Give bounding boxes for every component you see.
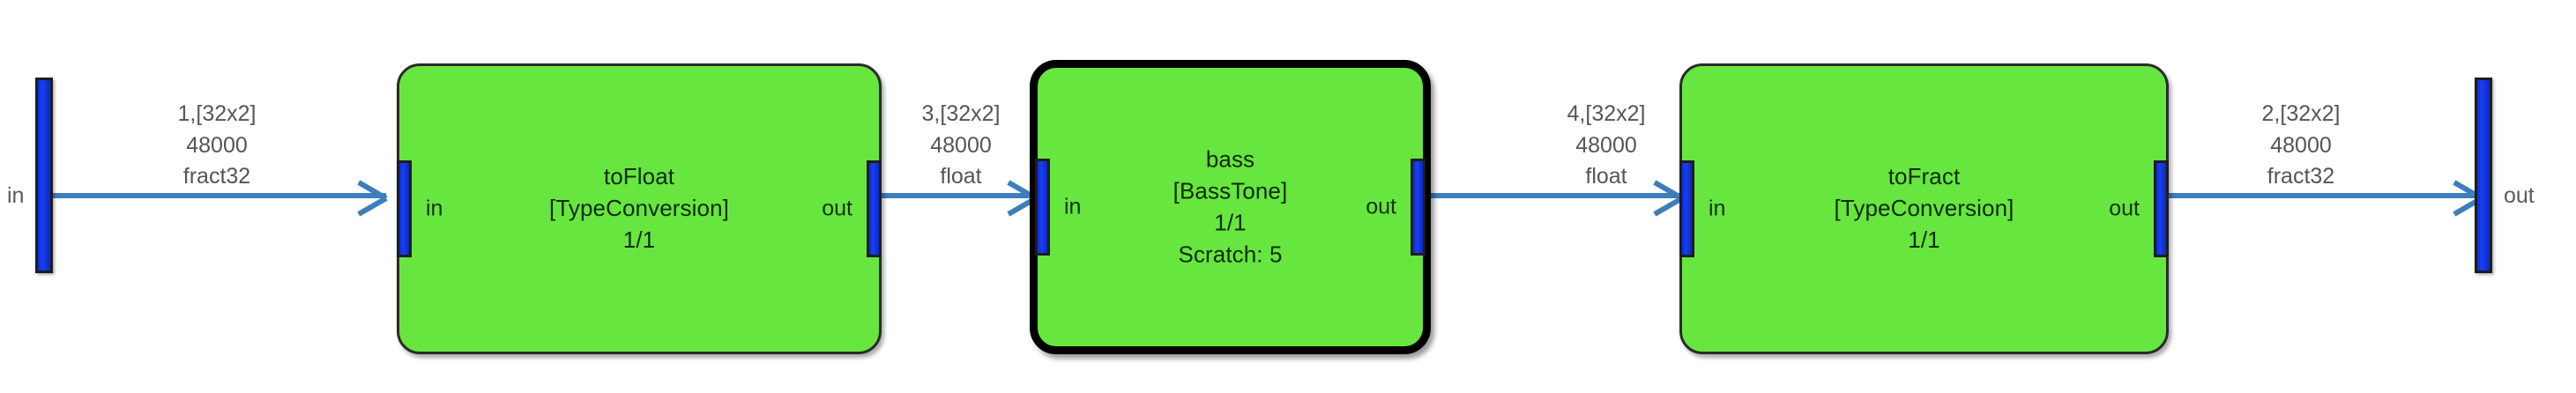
block-toFloat-port-in[interactable] xyxy=(397,160,412,257)
block-bass-extra: Scratch: 5 xyxy=(1038,239,1423,271)
block-toFloat-body: toFloat [TypeConversion] 1/1 xyxy=(399,161,879,256)
block-toFloat-type: [TypeConversion] xyxy=(399,193,879,225)
block-bass-port-in-label: in xyxy=(1064,196,1081,219)
block-toFract-name: toFract xyxy=(1682,161,2166,193)
block-toFloat[interactable]: in out toFloat [TypeConversion] 1/1 xyxy=(397,63,882,354)
block-toFract-rate: 1/1 xyxy=(1682,225,2166,256)
edge-line-2[interactable] xyxy=(2164,193,2482,198)
block-toFloat-rate: 1/1 xyxy=(399,225,879,256)
edge-label-2-line3: fract32 xyxy=(2262,161,2341,193)
block-toFloat-port-in-label: in xyxy=(426,198,443,220)
edge-label-4-line3: float xyxy=(1567,161,1646,193)
edge-label-2-line1: 2,[32x2] xyxy=(2262,99,2341,130)
edge-label-2-line2: 48000 xyxy=(2262,130,2341,162)
block-bass-port-out-label: out xyxy=(1366,196,1396,219)
block-toFract-port-in[interactable] xyxy=(1679,160,1694,257)
edge-label-1-line2: 48000 xyxy=(178,130,257,162)
block-bass-name: bass xyxy=(1038,144,1423,175)
block-toFract-port-out-label: out xyxy=(2109,198,2140,220)
edge-label-1-line3: fract32 xyxy=(178,161,257,193)
edge-label-4-line2: 48000 xyxy=(1567,130,1646,162)
edge-label-2: 2,[32x2] 48000 fract32 xyxy=(2262,99,2341,193)
block-bass-port-in[interactable] xyxy=(1035,159,1050,256)
block-toFloat-port-out[interactable] xyxy=(867,160,882,257)
edge-label-3-line2: 48000 xyxy=(922,130,1001,162)
block-bass-port-out[interactable] xyxy=(1411,159,1426,256)
edge-label-1: 1,[32x2] 48000 fract32 xyxy=(178,99,257,193)
block-toFract-port-in-label: in xyxy=(1709,198,1725,220)
edge-label-1-line1: 1,[32x2] xyxy=(178,99,257,130)
block-bass[interactable]: in out bass [BassTone] 1/1 Scratch: 5 xyxy=(1030,60,1431,354)
block-toFract-body: toFract [TypeConversion] 1/1 xyxy=(1682,161,2166,256)
edge-line-4[interactable] xyxy=(1422,193,1682,198)
output-terminal-label: out xyxy=(2504,185,2535,207)
edge-line-1[interactable] xyxy=(51,193,386,198)
edge-label-3: 3,[32x2] 48000 float xyxy=(922,99,1001,193)
edge-label-4: 4,[32x2] 48000 float xyxy=(1567,99,1646,193)
block-toFract[interactable]: in out toFract [TypeConversion] 1/1 xyxy=(1679,63,2169,354)
edge-line-3[interactable] xyxy=(877,193,1036,198)
edge-label-3-line1: 3,[32x2] xyxy=(922,99,1001,130)
output-terminal[interactable] xyxy=(2475,78,2492,273)
block-toFloat-name: toFloat xyxy=(399,161,879,193)
input-terminal-label: in xyxy=(7,185,24,207)
input-terminal[interactable] xyxy=(35,78,53,273)
block-toFract-type: [TypeConversion] xyxy=(1682,193,2166,225)
edge-label-3-line3: float xyxy=(922,161,1001,193)
block-toFloat-port-out-label: out xyxy=(822,198,852,220)
graph-canvas[interactable]: 1,[32x2] 48000 fract32 3,[32x2] 48000 fl… xyxy=(0,0,2576,393)
block-toFract-port-out[interactable] xyxy=(2154,160,2169,257)
edge-label-4-line1: 4,[32x2] xyxy=(1567,99,1646,130)
